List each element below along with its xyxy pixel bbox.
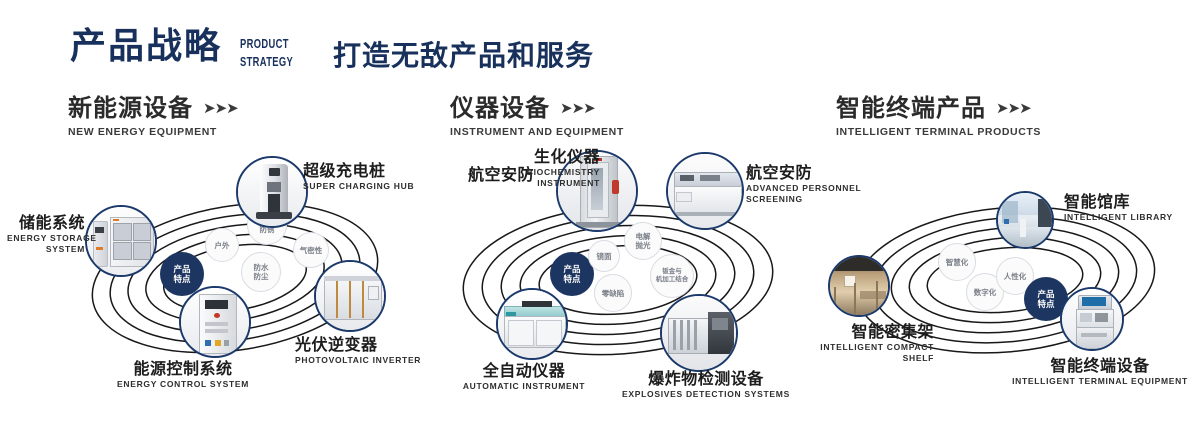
poster-header: 产品战略 PRODUCT STRATEGY <box>70 26 314 69</box>
label-cn: 爆炸物检测设备 <box>596 370 816 389</box>
section-title-text: 仪器设备 <box>450 95 550 123</box>
label-en-line1: INTELLIGENT LIBRARY <box>1064 212 1173 223</box>
feature-bubble-sheetmetal-machining: 钣金与机加工结合 <box>650 254 694 298</box>
feature-bubble-outdoor: 户外 <box>205 228 239 262</box>
core-bubble-text: 产品特点 <box>173 264 190 284</box>
node-personnel-screening[interactable] <box>666 152 744 230</box>
label-cn: 智能馆库 <box>1064 193 1173 212</box>
label-en-line1: SUPER CHARGING HUB <box>303 181 414 192</box>
section-heading-intelligent-terminal: 智能终端产品 ➤➤➤ INTELLIGENT TERMINAL PRODUCTS <box>836 95 1041 138</box>
section-title-cn: 仪器设备 ➤➤➤ <box>450 95 624 123</box>
label-intelligent-library: 智能馆库 INTELLIGENT LIBRARY <box>1064 193 1173 223</box>
core-bubble-text: 产品特点 <box>1037 289 1054 309</box>
header-title-en-line2: STRATEGY <box>240 55 293 69</box>
feature-bubble-text: 防水防尘 <box>254 263 269 281</box>
personnel-screening-machine-photo <box>668 154 742 228</box>
section-title-cn: 智能终端产品 ➤➤➤ <box>836 95 1041 123</box>
node-photovoltaic-inverter[interactable] <box>314 260 386 332</box>
node-intelligent-terminal-equipment[interactable] <box>1060 287 1124 351</box>
automatic-instrument-photo <box>498 290 566 358</box>
energy-control-cabinet-photo <box>181 288 249 356</box>
label-cn: 储能系统 <box>7 214 85 233</box>
ev-charging-pile-photo <box>238 158 306 226</box>
label-en-line1: BIOCHEMISTRY <box>448 167 600 178</box>
node-super-charging-hub[interactable] <box>236 156 308 228</box>
label-en-line2: INSTRUMENT <box>448 178 600 189</box>
section-title-en: NEW ENERGY EQUIPMENT <box>68 126 238 138</box>
feature-bubble-text: 户外 <box>215 241 230 250</box>
label-cn: 智能终端设备 <box>1000 357 1200 376</box>
label-energy-control-system: 能源控制系统 ENERGY CONTROL SYSTEM <box>83 360 283 390</box>
node-automatic-instrument[interactable] <box>496 288 568 360</box>
feature-bubble-text: 气密性 <box>300 246 323 255</box>
label-en-line2: SYSTEM <box>7 244 85 255</box>
feature-bubble-waterproof: 防水防尘 <box>241 252 281 292</box>
section-title-en: INSTRUMENT AND EQUIPMENT <box>450 126 624 138</box>
label-photovoltaic-inverter: 光伏逆变器 PHOTOVOLTAIC INVERTER <box>295 336 421 366</box>
header-title-en-line1: PRODUCT <box>240 37 293 51</box>
feature-bubble-text: 人性化 <box>1004 272 1027 281</box>
label-en-line1: EXPLOSIVES DETECTION SYSTEMS <box>596 389 816 400</box>
section-title-cn: 新能源设备 ➤➤➤ <box>68 95 238 123</box>
energy-storage-cabinet-photo <box>87 207 155 275</box>
label-cn: 生化仪器 <box>448 148 600 167</box>
label-intelligent-terminal-equipment: 智能终端设备 INTELLIGENT TERMINAL EQUIPMENT <box>1000 357 1200 387</box>
section-title-en: INTELLIGENT TERMINAL PRODUCTS <box>836 126 1041 138</box>
header-slogan: 打造无敌产品和服务 <box>333 34 594 74</box>
feature-bubble-text: 电解抛光 <box>636 232 651 250</box>
node-energy-control-system[interactable] <box>179 286 251 358</box>
core-bubble-text: 产品特点 <box>563 264 580 284</box>
chevron-right-icon: ➤➤➤ <box>203 95 238 123</box>
feature-bubble-text: 镜面 <box>597 252 612 261</box>
section-heading-instrument: 仪器设备 ➤➤➤ INSTRUMENT AND EQUIPMENT <box>450 95 624 138</box>
label-explosives-detection: 爆炸物检测设备 EXPLOSIVES DETECTION SYSTEMS <box>596 370 816 400</box>
intelligent-library-photo <box>998 193 1052 247</box>
label-cn: 超级充电桩 <box>303 162 414 181</box>
label-cn: 光伏逆变器 <box>295 336 421 355</box>
chevron-right-icon: ➤➤➤ <box>996 95 1031 123</box>
label-en-line1: INTELLIGENT COMPACT <box>726 342 934 353</box>
label-cn: 能源控制系统 <box>83 360 283 379</box>
cluster-new-energy: 产品特点 户外 防腐防锈 防水防尘 气密性 <box>55 160 415 390</box>
label-intelligent-compact-shelf: 智能密集架 INTELLIGENT COMPACT SHELF <box>726 323 934 364</box>
label-en-line2: SHELF <box>726 353 934 364</box>
label-biochemistry-instrument: 生化仪器 BIOCHEMISTRY INSTRUMENT <box>448 148 600 189</box>
label-en-line1: ENERGY STORAGE <box>7 233 85 244</box>
node-intelligent-library[interactable] <box>996 191 1054 249</box>
feature-bubble-text: 钣金与机加工结合 <box>656 268 689 284</box>
section-heading-new-energy: 新能源设备 ➤➤➤ NEW ENERGY EQUIPMENT <box>68 95 238 138</box>
label-super-charging-hub: 超级充电桩 SUPER CHARGING HUB <box>303 162 414 192</box>
label-en-line1: INTELLIGENT TERMINAL EQUIPMENT <box>1000 376 1200 387</box>
label-en-line1: PHOTOVOLTAIC INVERTER <box>295 355 421 366</box>
feature-bubble-zero-defect: 零缺陷 <box>594 274 632 312</box>
photovoltaic-inverter-photo <box>316 262 384 330</box>
label-en-line1: ENERGY CONTROL SYSTEM <box>83 379 283 390</box>
header-title-cn: 产品战略 <box>70 26 222 66</box>
section-title-text: 智能终端产品 <box>836 95 986 123</box>
poster-canvas: 产品战略 PRODUCT STRATEGY 打造无敌产品和服务 新能源设备 ➤➤… <box>0 0 1200 422</box>
node-intelligent-compact-shelf[interactable] <box>828 255 890 317</box>
feature-bubble-smart: 智慧化 <box>938 243 976 281</box>
intelligent-terminal-kiosk-photo <box>1062 289 1122 349</box>
feature-bubble-text: 零缺陷 <box>602 289 625 298</box>
cluster-intelligent-terminal: 智慧化 数字化 人性化 产品特点 智能馆库 INTELLIGENT LIBRAR… <box>820 165 1190 395</box>
feature-bubble-mirror-finish: 镜面 <box>588 240 620 272</box>
feature-bubble-text: 智慧化 <box>946 258 969 267</box>
feature-bubble-text: 数字化 <box>974 288 997 297</box>
compact-shelf-photo <box>830 257 888 315</box>
section-title-text: 新能源设备 <box>68 95 193 123</box>
label-cn: 智能密集架 <box>726 323 934 342</box>
label-energy-storage: 储能系统 ENERGY STORAGE SYSTEM <box>7 214 85 255</box>
chevron-right-icon: ➤➤➤ <box>560 95 595 123</box>
header-title-en: PRODUCT STRATEGY <box>230 33 314 69</box>
explosives-detection-unit-photo <box>662 296 736 370</box>
